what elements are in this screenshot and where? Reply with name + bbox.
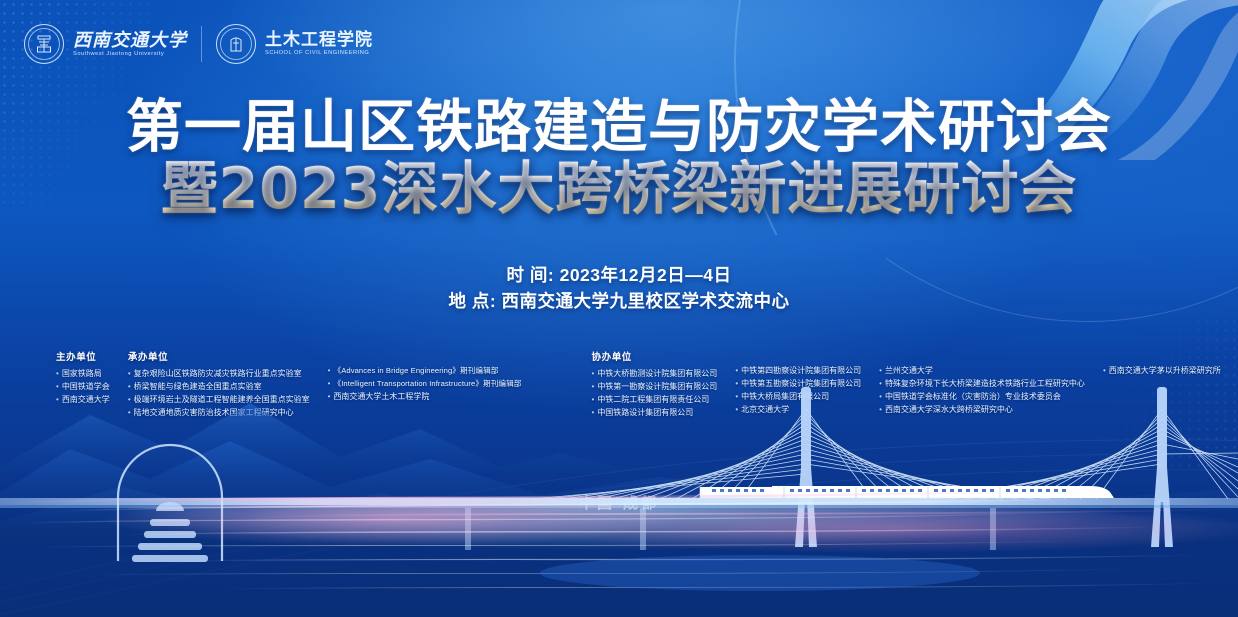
logo-swjtu-cn: 西南交通大学 — [73, 31, 187, 49]
water-glow — [0, 497, 1238, 617]
logo-swjtu-en: Southwest Jiaotong University — [73, 52, 189, 58]
logo-civil-cn: 土木工程学院 — [265, 31, 373, 48]
event-time: 时 间: 2023年12月2日—4日 — [0, 262, 1238, 288]
title-line-2: 暨2023深水大跨桥梁新进展研讨会 — [0, 158, 1238, 220]
logo-swjtu-text: 西南交通大学 Southwest Jiaotong University — [73, 31, 187, 58]
conference-banner: 西南交通大学 Southwest Jiaotong University 土木工… — [0, 0, 1238, 617]
logo-civil-text: 土木工程学院 SCHOOL OF CIVIL ENGINEERING — [265, 31, 373, 57]
scene-illustration — [0, 317, 1238, 617]
banner-title: 第一届山区铁路建造与防灾学术研讨会 暨2023深水大跨桥梁新进展研讨会 — [0, 96, 1238, 220]
logo-divider — [201, 26, 202, 62]
logo-swjtu: 西南交通大学 Southwest Jiaotong University — [24, 24, 187, 64]
university-seal-icon — [24, 24, 64, 64]
logo-civil-en: SCHOOL OF CIVIL ENGINEERING — [265, 51, 375, 57]
title-line-1: 第一届山区铁路建造与防灾学术研讨会 — [0, 96, 1238, 158]
event-place: 地 点: 西南交通大学九里校区学术交流中心 — [0, 288, 1238, 314]
event-meta: 时 间: 2023年12月2日—4日 地 点: 西南交通大学九里校区学术交流中心 — [0, 262, 1238, 315]
school-seal-icon — [216, 24, 256, 64]
logo-bar: 西南交通大学 Southwest Jiaotong University 土木工… — [24, 24, 373, 64]
logo-civil-school: 土木工程学院 SCHOOL OF CIVIL ENGINEERING — [216, 24, 373, 64]
